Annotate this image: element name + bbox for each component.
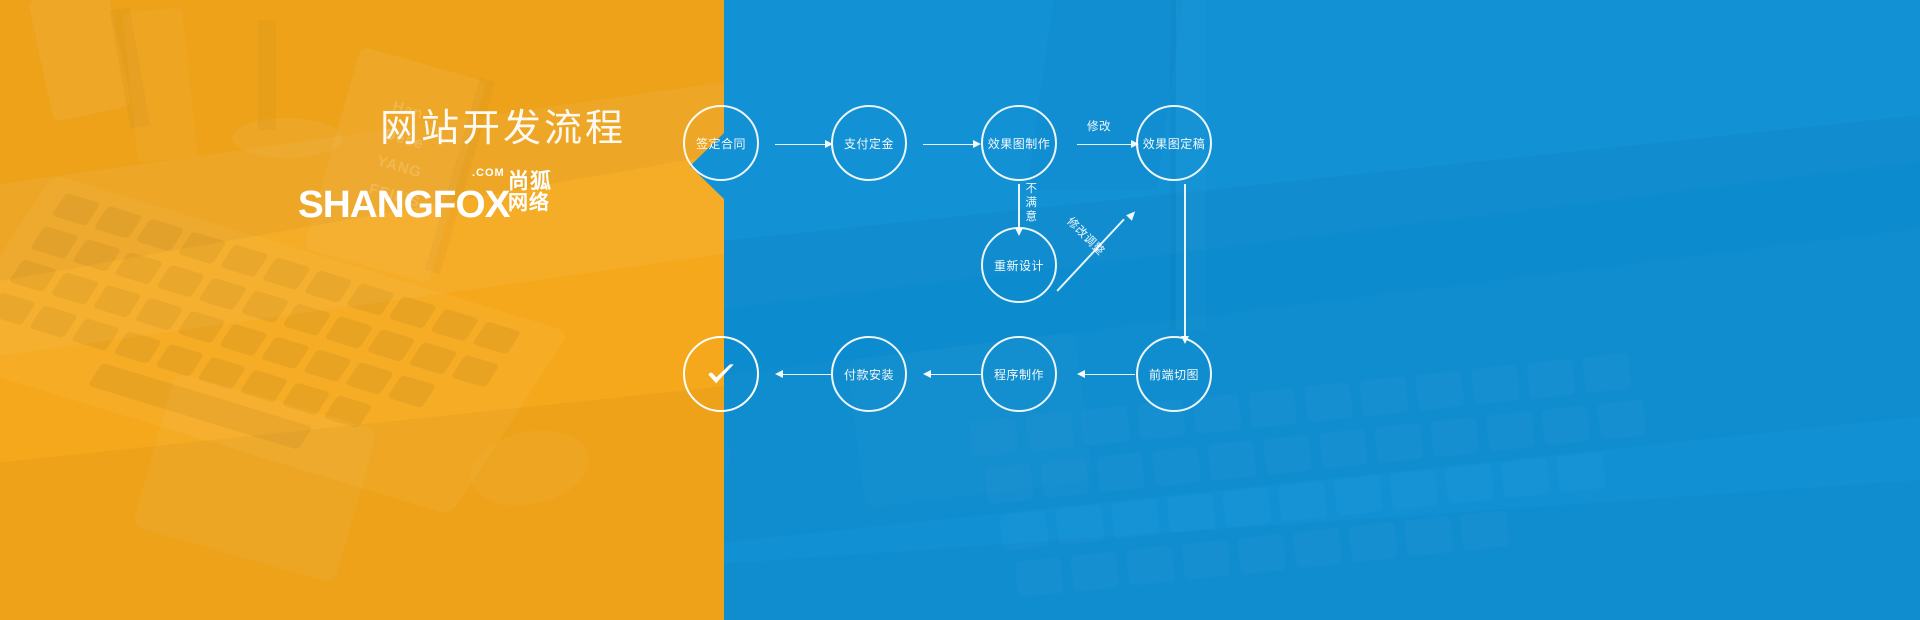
flow-node-mockup-final-label: 效果图定稿 xyxy=(1143,135,1206,152)
flow-node-sign-contract-label: 签定合同 xyxy=(696,135,746,152)
flow-node-program-build-label: 程序制作 xyxy=(994,366,1044,383)
edge-label-adjust: 修改调整 xyxy=(1063,213,1108,258)
edge-slicing-to-program-arrowhead xyxy=(1077,370,1085,378)
flow-node-frontend-slicing[interactable]: 前端切图 xyxy=(1136,336,1212,412)
flow-node-mockup-design-label: 效果图制作 xyxy=(988,135,1051,152)
flow-node-redesign[interactable]: 重新设计 xyxy=(981,227,1057,303)
flow-node-payment-install[interactable]: 付款安装 xyxy=(831,336,907,412)
edge-label-revise: 修改 xyxy=(1087,118,1111,134)
website-development-flowchart: 修改 不满意 修改调整 签定合同 支付定金 效果图制作 xyxy=(0,0,1920,620)
flow-node-mockup-design[interactable]: 效果图制作 xyxy=(981,105,1057,181)
edge-redesign-to-final-arrowhead xyxy=(1126,209,1138,221)
edge-program-to-payment xyxy=(925,374,981,376)
check-icon xyxy=(704,357,738,391)
edge-mockup-to-final xyxy=(1077,144,1133,146)
edge-slicing-to-program xyxy=(1079,374,1135,376)
flow-node-pay-deposit-label: 支付定金 xyxy=(844,135,894,152)
edge-sign-to-deposit xyxy=(775,144,827,146)
edge-mockup-to-redesign xyxy=(1018,184,1020,230)
edge-label-unsatisfied: 不满意 xyxy=(1025,182,1038,224)
edge-payment-to-done xyxy=(777,374,831,376)
flow-node-pay-deposit[interactable]: 支付定金 xyxy=(831,105,907,181)
edge-program-to-payment-arrowhead xyxy=(923,370,931,378)
flow-node-sign-contract[interactable]: 签定合同 xyxy=(683,105,759,181)
flow-node-payment-install-label: 付款安装 xyxy=(844,366,894,383)
flow-node-completed[interactable] xyxy=(683,336,759,412)
banner-stage: HanDeseYANGFEILIS 网站开发流程 SHANGFOX .COM 尚… xyxy=(0,0,1920,620)
edge-deposit-to-mockup-arrowhead xyxy=(973,140,981,148)
edge-final-to-slicing xyxy=(1184,184,1186,338)
flow-node-mockup-final[interactable]: 效果图定稿 xyxy=(1136,105,1212,181)
edge-deposit-to-mockup xyxy=(923,144,975,146)
flow-node-program-build[interactable]: 程序制作 xyxy=(981,336,1057,412)
flow-node-redesign-label: 重新设计 xyxy=(994,257,1044,274)
edge-payment-to-done-arrowhead xyxy=(775,370,783,378)
flow-node-frontend-slicing-label: 前端切图 xyxy=(1149,366,1199,383)
